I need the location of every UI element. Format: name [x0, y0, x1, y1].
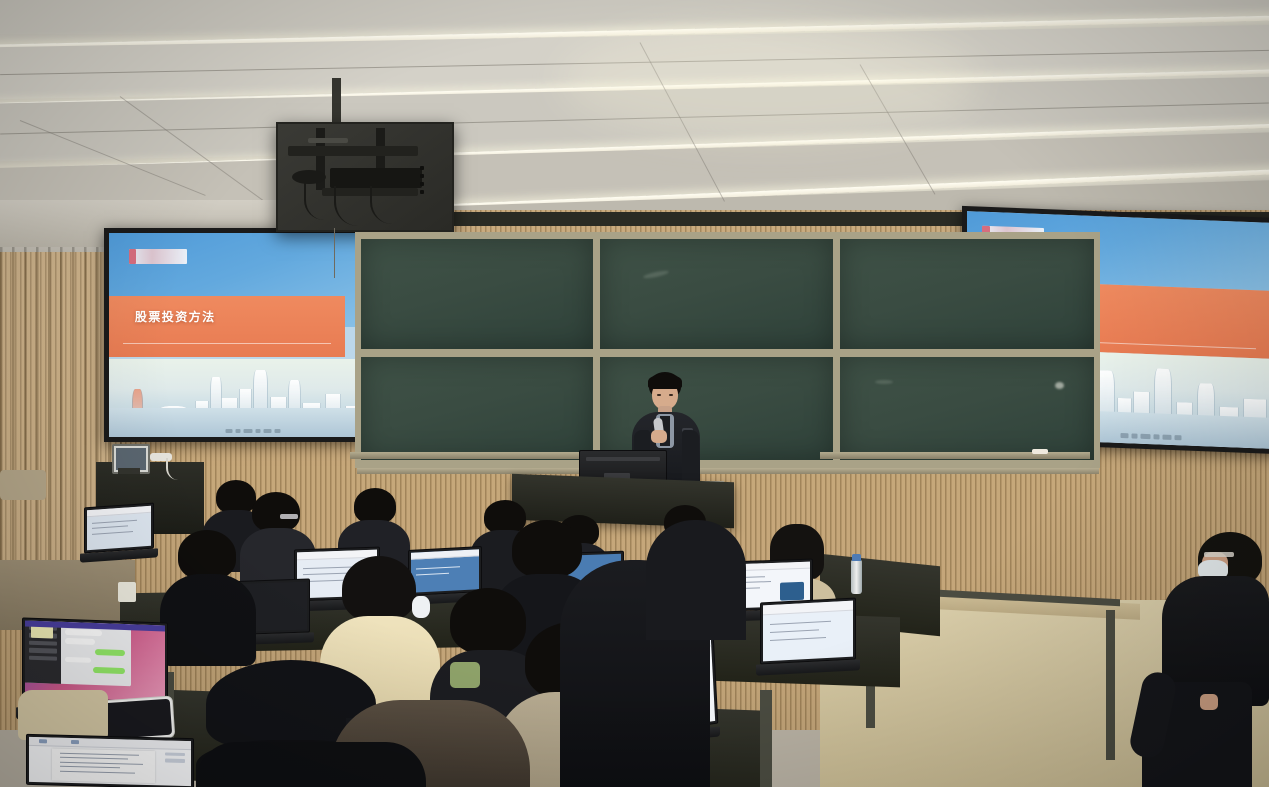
paper-cup-2[interactable] — [118, 582, 136, 602]
sticky-note-icon — [31, 626, 53, 639]
chalk-ledge-right — [820, 452, 1090, 459]
university-logo-icon — [129, 249, 187, 263]
presenter-arm-right — [682, 430, 699, 486]
lecture-hall-photo: 股票投资方法 — [0, 0, 1269, 787]
laptop-right-front[interactable] — [760, 600, 860, 680]
slide-title: 股票投资方法 — [135, 308, 216, 325]
desk-leg — [760, 690, 772, 787]
green-chalkboard — [355, 232, 1100, 468]
slide-left: 股票投资方法 — [109, 233, 397, 437]
ceiling — [0, 0, 1269, 232]
tv-ceiling-pole — [332, 78, 341, 128]
bottle-cap — [852, 554, 861, 561]
slide-footer-credits — [226, 429, 281, 433]
chalk-eraser[interactable] — [1032, 449, 1048, 454]
slide-cityscape — [109, 359, 397, 437]
slide-title-band — [109, 296, 345, 357]
glasses-icon — [280, 514, 298, 519]
backpack-strap — [450, 662, 480, 688]
laptop-document-editor[interactable] — [26, 736, 196, 787]
student-hand-typing — [18, 690, 108, 740]
student-far-right — [1142, 532, 1269, 787]
student-foreground-3 — [196, 742, 426, 787]
desk-leg — [1106, 610, 1115, 760]
glasses-icon — [1204, 552, 1234, 557]
laptop-mid-left[interactable] — [80, 505, 156, 565]
student-front-1 — [160, 530, 256, 660]
water-bottle[interactable] — [851, 560, 862, 594]
chalk-ledge — [350, 452, 610, 459]
ceiling-mounted-display[interactable] — [276, 122, 454, 232]
hanging-wire — [334, 228, 349, 278]
console-shelf-item — [0, 470, 46, 500]
hand — [1200, 694, 1218, 710]
presenter-hand — [651, 430, 667, 443]
face-mask — [412, 596, 430, 618]
panel-base — [118, 468, 140, 474]
student-foreground-2 — [646, 520, 746, 640]
